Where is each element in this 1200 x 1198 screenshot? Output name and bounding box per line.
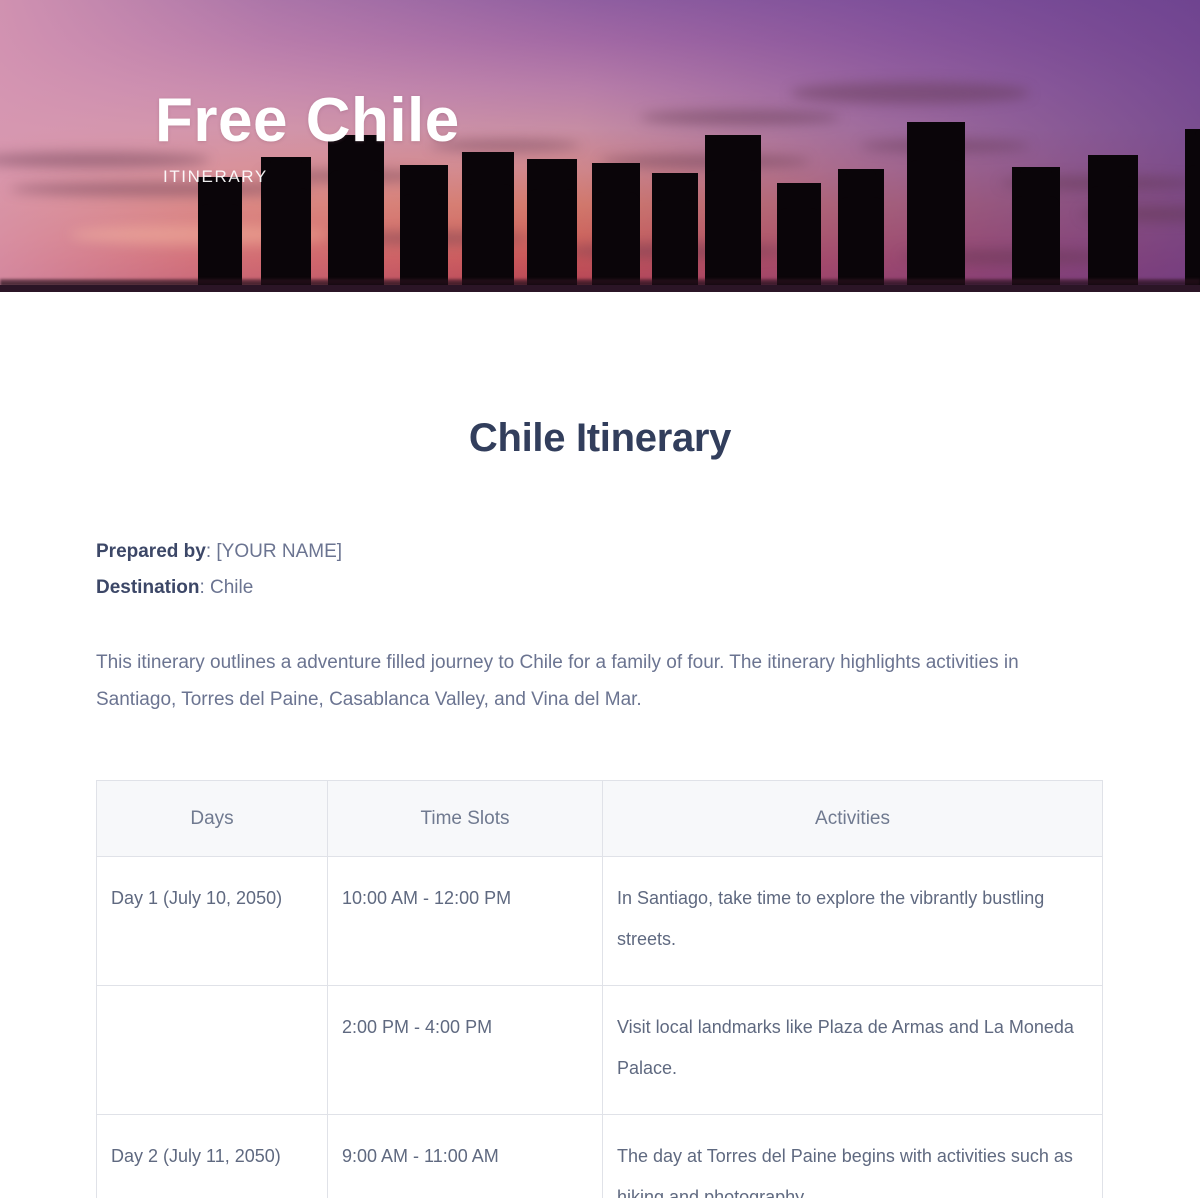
table-row: Day 1 (July 10, 2050) 10:00 AM - 12:00 P… bbox=[97, 857, 1103, 986]
meta-value-prepared-by: [YOUR NAME] bbox=[216, 541, 342, 562]
table-row: Day 2 (July 11, 2050) 9:00 AM - 11:00 AM… bbox=[97, 1115, 1103, 1198]
moai-statue-icon bbox=[527, 159, 577, 287]
moai-statue-icon bbox=[1185, 129, 1200, 287]
itinerary-page: Free Chile ITINERARY Chile Itinerary Pre… bbox=[0, 0, 1200, 1198]
meta-block: Prepared by: [YOUR NAME] Destination: Ch… bbox=[96, 534, 1104, 606]
moai-statue-icon bbox=[777, 183, 821, 287]
column-header-days: Days bbox=[97, 781, 328, 857]
cell-time-slot: 2:00 PM - 4:00 PM bbox=[328, 986, 603, 1115]
cell-days: Day 1 (July 10, 2050) bbox=[97, 857, 328, 986]
moai-statue-icon bbox=[1012, 167, 1060, 287]
intro-paragraph: This itinerary outlines a adventure fill… bbox=[96, 644, 1104, 718]
page-title: Chile Itinerary bbox=[96, 416, 1104, 461]
cell-days: Day 2 (July 11, 2050) bbox=[97, 1115, 328, 1198]
meta-row-destination: Destination: Chile bbox=[96, 570, 1104, 606]
hero-text-block: Free Chile ITINERARY bbox=[155, 88, 460, 187]
moai-statue-icon bbox=[652, 173, 698, 287]
moai-statue-icon bbox=[705, 135, 761, 287]
table-header: Days Time Slots Activities bbox=[97, 781, 1103, 857]
itinerary-table-wrapper: Days Time Slots Activities Day 1 (July 1… bbox=[96, 780, 1104, 1198]
moai-statue-icon bbox=[907, 122, 965, 287]
column-header-time-slots: Time Slots bbox=[328, 781, 603, 857]
moai-statue-icon bbox=[198, 177, 242, 287]
document-body: Chile Itinerary Prepared by: [YOUR NAME]… bbox=[0, 416, 1200, 1198]
itinerary-table: Days Time Slots Activities Day 1 (July 1… bbox=[96, 780, 1103, 1198]
moai-statue-icon bbox=[838, 169, 884, 287]
cell-activity: Visit local landmarks like Plaza de Arma… bbox=[603, 986, 1103, 1115]
meta-separator: : bbox=[206, 541, 217, 562]
cell-days bbox=[97, 986, 328, 1115]
meta-separator: : bbox=[199, 577, 210, 598]
meta-label-destination: Destination bbox=[96, 577, 199, 598]
hero-subtitle: ITINERARY bbox=[163, 167, 460, 187]
cell-time-slot: 10:00 AM - 12:00 PM bbox=[328, 857, 603, 986]
table-row: 2:00 PM - 4:00 PM Visit local landmarks … bbox=[97, 986, 1103, 1115]
meta-label-prepared-by: Prepared by bbox=[96, 541, 206, 562]
hero-title: Free Chile bbox=[155, 88, 460, 153]
moai-statue-icon bbox=[462, 152, 514, 287]
sea-band bbox=[0, 285, 1200, 292]
moai-statue-icon bbox=[1088, 155, 1138, 287]
column-header-activities: Activities bbox=[603, 781, 1103, 857]
moai-statue-icon bbox=[592, 163, 640, 287]
table-body: Day 1 (July 10, 2050) 10:00 AM - 12:00 P… bbox=[97, 857, 1103, 1198]
meta-row-prepared-by: Prepared by: [YOUR NAME] bbox=[96, 534, 1104, 570]
cell-activity: The day at Torres del Paine begins with … bbox=[603, 1115, 1103, 1198]
cell-time-slot: 9:00 AM - 11:00 AM bbox=[328, 1115, 603, 1198]
table-header-row: Days Time Slots Activities bbox=[97, 781, 1103, 857]
hero-banner: Free Chile ITINERARY bbox=[0, 0, 1200, 292]
cloud-streak bbox=[790, 82, 1030, 104]
cell-activity: In Santiago, take time to explore the vi… bbox=[603, 857, 1103, 986]
meta-value-destination: Chile bbox=[210, 577, 253, 598]
